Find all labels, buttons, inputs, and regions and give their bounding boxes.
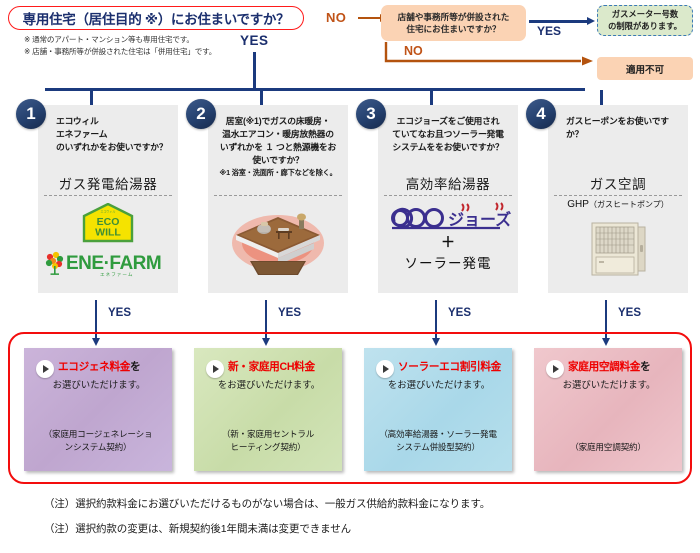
enefarm-logo: ENE·FARM エネファーム [44,248,172,278]
column-4-question: ガスヒーポンをお使いです か？ [552,115,686,141]
ecojozes-logo-icon: ジョーズ [384,201,512,233]
column-3-question-line2: ていてなお且つソーラー発電 [392,129,504,139]
result-1-contract-line1: （家庭用コージェネレーショ [44,429,153,439]
gas-meter-limit-line2: の制限があります。 [608,21,682,33]
play-icon [206,360,224,378]
result-1-headline-red: エコジェネ料金 [58,361,130,373]
gas-meter-limit-line1: ガスメーター号数 [612,9,678,21]
column-2-divider [214,195,342,196]
floor-heating-illustration [228,203,328,278]
result-2-contract-line1: （新・家庭用セントラル [222,429,314,439]
footer-note-1: （注）選択約款料金にお選びいただけるものがない場合は、一般ガス供給約款料金になり… [44,496,490,511]
result-4-headline: 家庭用空調料金を [568,360,676,374]
ecowill-logo-icon: エコウィル ECO WILL ガス発電・給湯暖房システム [82,203,134,243]
trunk-horizontal-line [45,88,585,91]
trunk-vertical-line [253,52,256,90]
not-applicable-box: 適用不可 [597,57,693,80]
result-1-contract-line2: ンシステム契約） [65,442,132,452]
column-3-title: 高効率給湯器 [378,173,518,193]
column-panel-2: 居室(※1)でガスの床暖房・ 温水エアコン・暖房放熱器の いずれかを １ つと熱… [208,105,348,293]
column-badge-1: 1 [16,99,46,129]
column-2-question: 居室(※1)でガスの床暖房・ 温水エアコン・暖房放熱器の いずれかを １ つと熱… [212,115,344,178]
play-icon [376,360,394,378]
play-icon [36,360,54,378]
result-3-contract: （高効率給湯器・ソーラー発電 システム併設型契約） [368,428,508,453]
column-2-question-line2: 温水エアコン・暖房放熱器の [222,129,334,139]
enefarm-logo-text: ENE·FARM [66,254,161,273]
column-4-question-line2: か？ [566,129,583,139]
column-badge-2: 2 [186,99,216,129]
column-1-question-line1: エコウィル [56,116,99,126]
yes-label-column-1: YES [108,307,131,319]
yes-label-column-2: YES [278,307,301,319]
column-4-title: ガス空調 [548,173,688,193]
yes-label-secondary: YES [537,24,561,38]
result-3-headline-red: ソーラーエコ割引料金 [398,361,501,373]
top-note-2: ※ 店舗・事務所等が併設された住宅は「併用住宅」です。 [24,46,216,57]
result-4-contract: （家庭用空調契約） [538,441,678,454]
ghp-unit-illustration [586,217,650,281]
svg-text:WILL: WILL [95,227,121,239]
result-card-4[interactable]: 家庭用空調料金を お選びいただけます。 （家庭用空調契約） [534,348,682,471]
result-card-3[interactable]: ソーラーエコ割引料金 をお選びいただけます。 （高効率給湯器・ソーラー発電 シス… [364,348,512,471]
column-3-question-line1: エコジョーズをご使用され [397,116,500,126]
result-card-2[interactable]: 新・家庭用CH料金 をお選びいただけます。 （新・家庭用セントラル ヒーティング… [194,348,342,471]
result-2-headline: 新・家庭用CH料金 [228,360,336,374]
column-3-question-line3: システムををお使いですか？ [392,142,503,152]
result-2-contract: （新・家庭用セントラル ヒーティング契約） [198,428,338,453]
result-1-contract: （家庭用コージェネレーショ ンシステム契約） [28,428,168,453]
column-2-question-note: ※1 浴室・洗面所・廊下などを除く。 [212,168,344,178]
flowchart-page: 専用住宅（居住目的 ※）にお住まいですか？ ※ 通常のアパート・マンション等も専… [0,0,700,553]
result-3-contract-line2: システム併設型契約） [396,442,480,452]
solar-generation-label: ソーラー発電 [378,252,518,272]
column-1-question-line3: のいずれかをお使いですか？ [56,142,168,152]
not-applicable-text: 適用不可 [626,62,664,76]
svg-text:エコウィル: エコウィル [101,209,116,214]
result-card-1[interactable]: エコジェネ料金を お選びいただけます。 （家庭用コージェネレーショ ンシステム契… [24,348,172,471]
column-2-question-line3: いずれかを １ つと熱源機をお [220,142,336,152]
result-2-contract-line2: ヒーティング契約） [230,442,305,452]
column-badge-3: 3 [356,99,386,129]
top-question-box: 専用住宅（居住目的 ※）にお住まいですか？ [8,6,304,30]
result-3-sub: をお選びいただけます。 [374,378,504,391]
arrow-no-primary [358,17,380,19]
column-panel-3: エコジョーズをご使用され ていてなお且つソーラー発電 システムををお使いですか？… [378,105,518,293]
column-panel-1: エコウィル エネファーム のいずれかをお使いですか？ ガス発電給湯器 エコウィル… [38,105,178,293]
result-1-headline-black: を [130,361,140,373]
enefarm-tree-icon [44,250,66,276]
result-2-headline-red: 新・家庭用CH料金 [228,361,315,373]
result-3-contract-line1: （高効率給湯器・ソーラー発電 [379,429,497,439]
play-icon [546,360,564,378]
column-3-question: エコジョーズをご使用され ていてなお且つソーラー発電 システムををお使いですか？ [382,115,514,154]
ghp-abbrev: GHP [567,199,589,210]
column-2-question-line1: 居室(※1)でガスの床暖房・ [226,116,330,126]
no-label-primary: NO [326,10,346,25]
column-1-question: エコウィル エネファーム のいずれかをお使いですか？ [42,115,176,154]
result-3-headline: ソーラーエコ割引料金 [398,360,506,374]
secondary-question-box: 店舗や事務所等が併設された 住宅にお住まいですか？ [381,5,526,41]
column-1-question-line2: エネファーム [56,129,107,139]
column-3-divider [384,195,512,196]
result-4-sub: お選びいただけます。 [544,378,674,391]
ghp-full-name: （ガスヒートポンプ） [589,200,669,209]
top-note-1: ※ 通常のアパート・マンション等も専用住宅です。 [24,34,194,45]
result-4-headline-red: 家庭用空調料金 [568,361,640,373]
secondary-question-line1: 店舗や事務所等が併設された [398,11,510,23]
column-4-question-line1: ガスヒーポンをお使いです [566,116,669,126]
result-1-sub: お選びいただけます。 [34,378,164,391]
result-4-headline-black: を [640,361,650,373]
ghp-label: GHP（ガスヒートポンプ） [548,199,688,210]
gas-meter-limit-box: ガスメーター号数 の制限があります。 [597,5,693,36]
column-2-question-line4: 使いですか？ [252,155,303,165]
result-2-sub: をお選びいただけます。 [204,378,334,391]
plus-sign: ＋ [378,232,518,252]
column-4-divider [554,195,682,196]
footer-note-2: （注）選択約款の変更は、新規契約後1年間未満は変更できません [44,521,351,536]
column-panel-4: ガスヒーポンをお使いです か？ ガス空調 GHP（ガスヒートポンプ） [548,105,688,293]
svg-text:ジョーズ: ジョーズ [448,210,511,229]
result-4-contract-line1: （家庭用空調契約） [570,442,646,452]
column-1-divider [44,195,172,196]
arrow-yes-secondary [529,20,587,23]
top-question-text: 専用住宅（居住目的 ※）にお住まいですか？ [23,8,290,28]
yes-label-column-4: YES [618,307,641,319]
result-1-headline: エコジェネ料金を [58,360,166,374]
yes-label-column-3: YES [448,307,471,319]
yes-label-primary: YES [240,33,269,48]
column-badge-4: 4 [526,99,556,129]
column-1-title: ガス発電給湯器 [38,173,178,193]
secondary-question-line2: 住宅にお住まいですか？ [406,23,500,35]
no-label-secondary: NO [404,44,423,58]
enefarm-logo-sub: エネファーム [100,272,133,278]
